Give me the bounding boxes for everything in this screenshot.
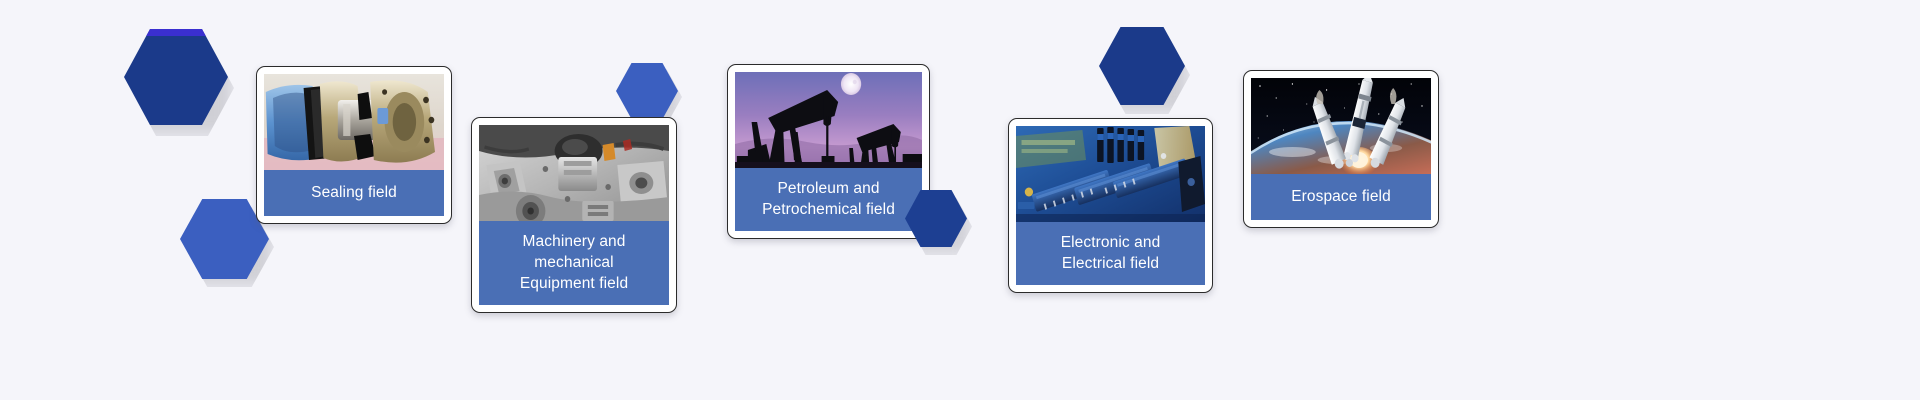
machinery-field-label-line1: Machinery and mechanical bbox=[483, 231, 665, 273]
erospace-field-caption: Erospace field bbox=[1251, 174, 1431, 220]
machinery-field-image bbox=[479, 125, 669, 221]
sealing-field-caption: Sealing field bbox=[264, 170, 444, 216]
electronic-field-label-line1: Electronic and bbox=[1020, 232, 1201, 253]
diagram-canvas: Sealing field bbox=[0, 0, 1920, 400]
petroleum-field-image bbox=[735, 72, 922, 168]
sealing-field-label: Sealing field bbox=[311, 184, 397, 201]
card-electronic-field[interactable]: Electronic and Electrical field bbox=[1008, 118, 1213, 293]
card-petroleum-field[interactable]: Petroleum and Petrochemical field bbox=[727, 64, 930, 239]
electronic-field-label-line2: Electrical field bbox=[1020, 253, 1201, 274]
card-erospace-field[interactable]: Erospace field bbox=[1243, 70, 1439, 228]
petroleum-field-caption: Petroleum and Petrochemical field bbox=[735, 168, 922, 231]
petroleum-field-label-line2: Petrochemical field bbox=[739, 199, 918, 220]
card-sealing-field[interactable]: Sealing field bbox=[256, 66, 452, 224]
card-machinery-field[interactable]: Machinery and mechanical Equipment field bbox=[471, 117, 677, 313]
petroleum-field-label-line1: Petroleum and bbox=[739, 178, 918, 199]
electronic-field-image bbox=[1016, 126, 1205, 222]
machinery-field-caption: Machinery and mechanical Equipment field bbox=[479, 221, 669, 305]
erospace-field-image bbox=[1251, 78, 1431, 174]
electronic-field-caption: Electronic and Electrical field bbox=[1016, 222, 1205, 285]
erospace-field-label: Erospace field bbox=[1291, 188, 1391, 205]
sealing-field-image bbox=[264, 74, 444, 170]
machinery-field-label-line2: Equipment field bbox=[483, 273, 665, 294]
